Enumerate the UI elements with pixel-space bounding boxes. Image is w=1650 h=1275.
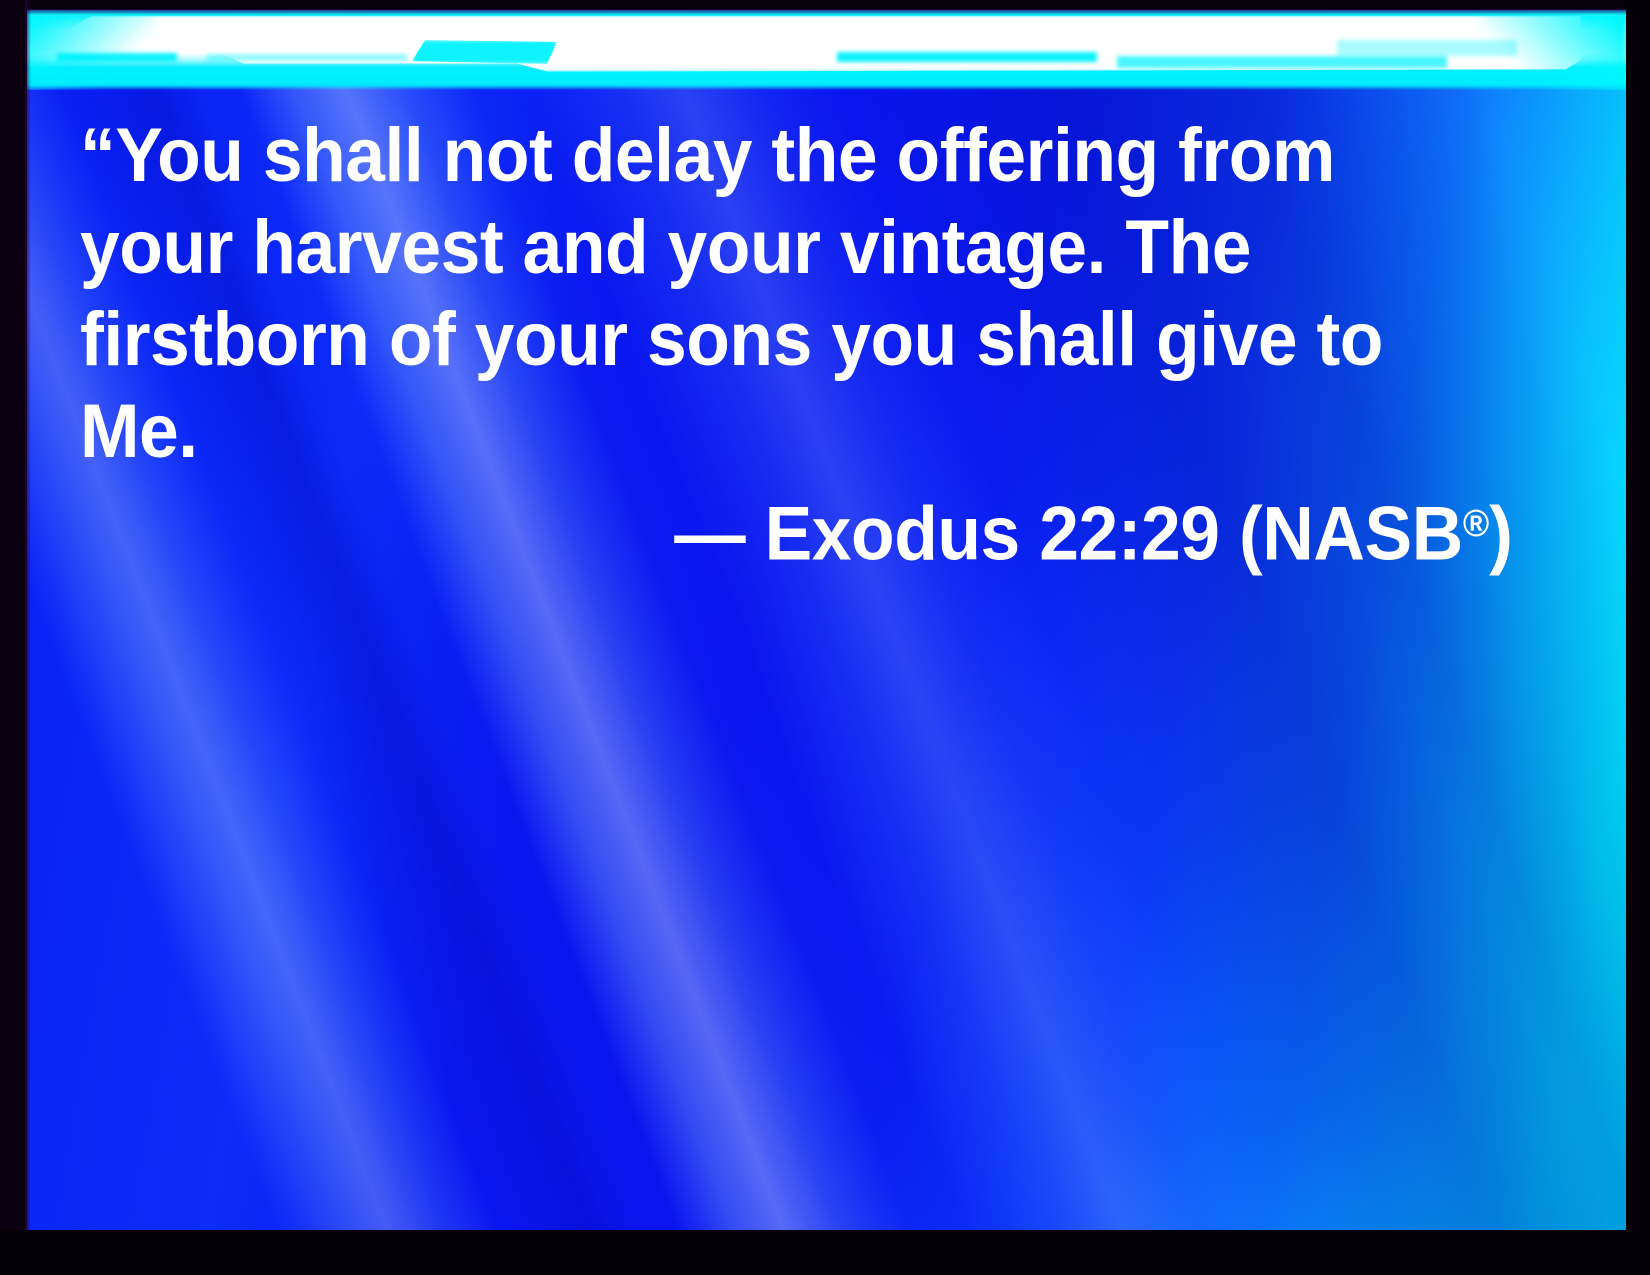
frame-border-left: [0, 0, 27, 1275]
reference-translation-open: (NASB: [1220, 492, 1463, 577]
verse-block: “You shall not delay the offering from y…: [80, 110, 1520, 581]
top-glow-band: [27, 10, 1626, 90]
reference-dash: —: [674, 492, 764, 577]
glow-band-streak-3: [412, 40, 557, 64]
glow-band-streak-5: [1117, 56, 1447, 68]
reference-book: Exodus: [765, 492, 1020, 577]
glow-band-streak-4: [837, 52, 1097, 62]
glow-band-streak-2: [207, 54, 407, 61]
glow-band-streak-right-wedge: [1480, 10, 1626, 90]
frame-border-right: [1626, 0, 1650, 1275]
glow-band-streak-bottom-edge: [27, 72, 1626, 86]
reference-chapter-verse: 22:29: [1039, 492, 1219, 577]
verse-reference: — Exodus 22:29 (NASB®): [166, 478, 1520, 581]
reference-translation-close: ): [1489, 492, 1512, 577]
frame-border-top: [0, 0, 1650, 10]
registered-trademark-icon: ®: [1463, 503, 1489, 545]
slide-canvas: “You shall not delay the offering from y…: [0, 0, 1650, 1275]
verse-text: “You shall not delay the offering from y…: [80, 110, 1434, 478]
reference-space: [1020, 492, 1039, 577]
frame-border-bottom: [0, 1230, 1650, 1275]
glow-band-streak-1: [57, 53, 177, 62]
